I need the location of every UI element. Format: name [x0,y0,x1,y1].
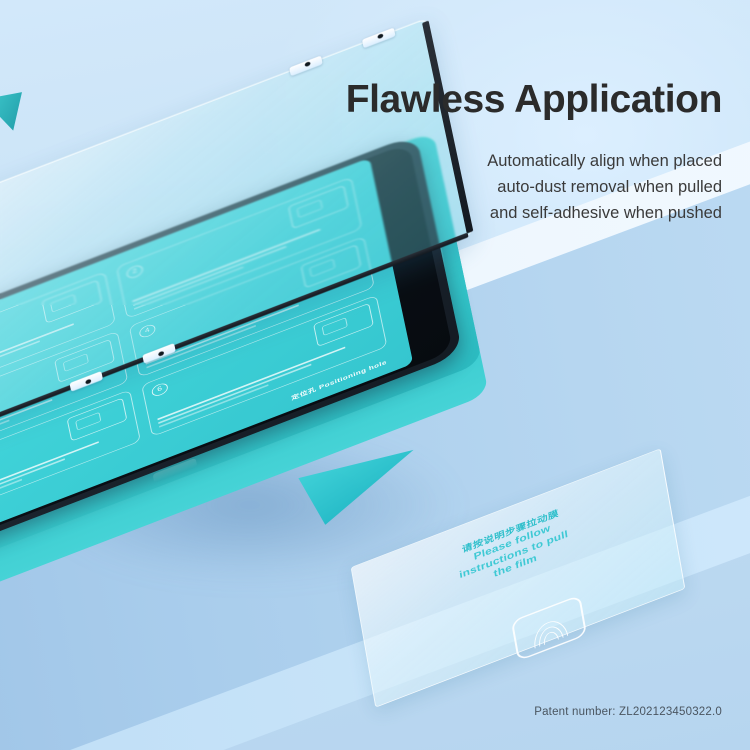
subtitle-line-1: Automatically align when placed [302,148,722,174]
patent-number: Patent number: ZL202123450322.0 [534,706,722,718]
page-title: Flawless Application [346,78,722,122]
product-marketing-image: 1 2 3 4 5 [0,0,750,750]
subtitle-line-3: and self-adhesive when pushed [302,200,722,226]
subtitle-copy: Automatically align when placed auto-dus… [302,148,722,226]
tray-hinge [0,85,29,139]
step-number: 6 [151,382,169,399]
subtitle-line-2: auto-dust removal when pulled [302,174,722,200]
